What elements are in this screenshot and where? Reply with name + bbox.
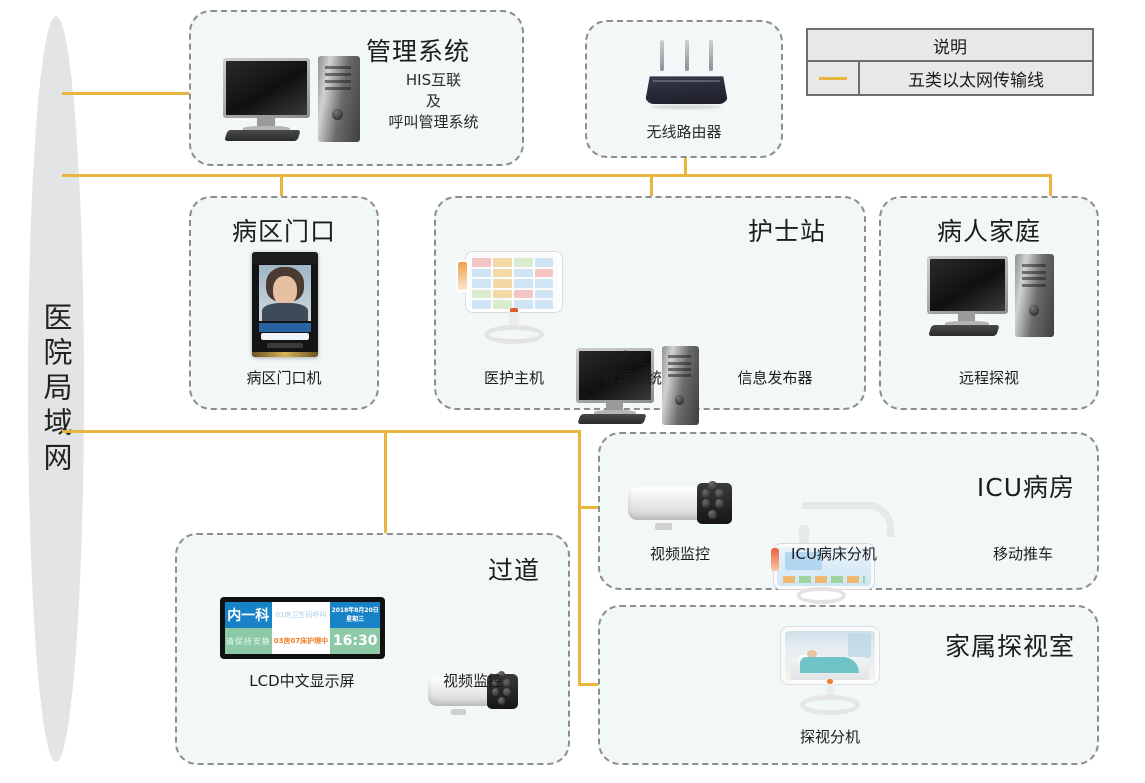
medical-all-in-one-caption: 医护主机 [484, 368, 544, 388]
zone-wireless-router[interactable]: 无线路由器 [585, 20, 783, 158]
lcd-display-icon: 内一科 请保持安静 01房卫生间呼叫 03房07床护理中 2018年8月20日 … [220, 597, 385, 659]
visitation-terminal-caption: 探视分机 [800, 727, 860, 747]
lcd-date-block: 2018年8月20日 星期三 [330, 602, 380, 628]
lcd-date: 2018年8月20日 [332, 606, 379, 615]
lcd-quiet-notice: 请保持安静 [225, 628, 272, 654]
hospital-lan-shape: 医院局域网 [28, 16, 84, 762]
zone-nurse-station[interactable]: 护士站 医护主机 病区 管理系统 [434, 196, 866, 410]
desktop-pc-icon [927, 254, 1057, 350]
wire-stub-visit-room [578, 683, 600, 686]
zone-ward-entrance-title: 病区门口 [191, 212, 377, 248]
zone-nurse-station-title: 护士站 [748, 212, 826, 248]
wireless-router-caption: 无线路由器 [587, 122, 781, 143]
zone-corridor[interactable]: 过道 内一科 请保持安静 01房卫生间呼叫 03房07床护理中 2018年8月2… [175, 533, 570, 765]
bullet-camera-icon [628, 478, 732, 530]
network-topology-diagram: 医院局域网 说明 五类以太网传输线 管理系统 HIS互联 及 呼叫管理系统 [0, 0, 1145, 783]
zone-management-subtitle: HIS互联 及 呼叫管理系统 [359, 70, 508, 133]
mobile-cart-caption: 移动推车 [993, 544, 1053, 564]
zone-management-title: 管理系统 [366, 32, 470, 68]
medical-all-in-one-icon [460, 252, 568, 348]
desktop-pc-icon [223, 56, 363, 156]
door-terminal-icon [252, 252, 318, 357]
wire-router-down [684, 158, 687, 176]
hospital-lan-label: 医院局域网 [28, 16, 84, 762]
zone-icu-title: ICU病房 [977, 468, 1075, 504]
legend-row: 五类以太网传输线 [808, 62, 1092, 94]
zone-management-system[interactable]: 管理系统 HIS互联 及 呼叫管理系统 [189, 10, 524, 166]
zone-patient-family-title: 病人家庭 [881, 212, 1097, 248]
lcd-message-bottom: 03房07床护理中 [272, 628, 331, 654]
legend-title: 说明 [808, 30, 1092, 62]
icu-camera-caption: 视频监控 [650, 544, 710, 564]
zone-icu[interactable]: ICU病房 视频监控 ICU病床分机 移动推车 [598, 432, 1099, 590]
zone-visit-room[interactable]: 家属探视室 探视分机 [598, 605, 1099, 765]
wire-right-riser [578, 430, 581, 686]
lcd-message-top: 01房卫生间呼叫 [272, 602, 331, 628]
zone-visit-room-title: 家属探视室 [945, 627, 1075, 663]
corridor-camera-caption: 视频监控 [443, 671, 503, 691]
remote-visitation-caption: 远程探视 [959, 368, 1019, 388]
zone-patient-family[interactable]: 病人家庭 远程探视 [879, 196, 1099, 410]
wire-drop-corridor [384, 430, 387, 533]
ward-management-system-caption: 病区 管理系统 [602, 348, 662, 388]
door-terminal-caption: 病区门口机 [246, 368, 321, 388]
visitation-terminal-icon [777, 627, 883, 719]
wireless-router-icon [639, 40, 734, 110]
zone-ward-entrance[interactable]: 病区门口 病区门口机 [189, 196, 379, 410]
info-board-caption: 信息发布器 [737, 368, 812, 388]
wire-top-bus [62, 174, 1052, 177]
lcd-department: 内一科 [225, 602, 272, 628]
wire-stub-icu [578, 506, 600, 509]
zone-corridor-title: 过道 [488, 551, 540, 587]
lcd-weekday: 星期三 [346, 615, 364, 624]
lcd-display-caption: LCD中文显示屏 [249, 671, 354, 691]
icu-bed-terminal-caption: ICU病床分机 [791, 544, 877, 564]
wire-lan-to-management [62, 92, 197, 95]
legend-line-label: 五类以太网传输线 [860, 62, 1092, 94]
legend: 说明 五类以太网传输线 [806, 28, 1094, 96]
wire-lower-bus [62, 430, 581, 433]
legend-line-swatch [808, 62, 860, 94]
lcd-time: 16:30 [330, 628, 380, 654]
